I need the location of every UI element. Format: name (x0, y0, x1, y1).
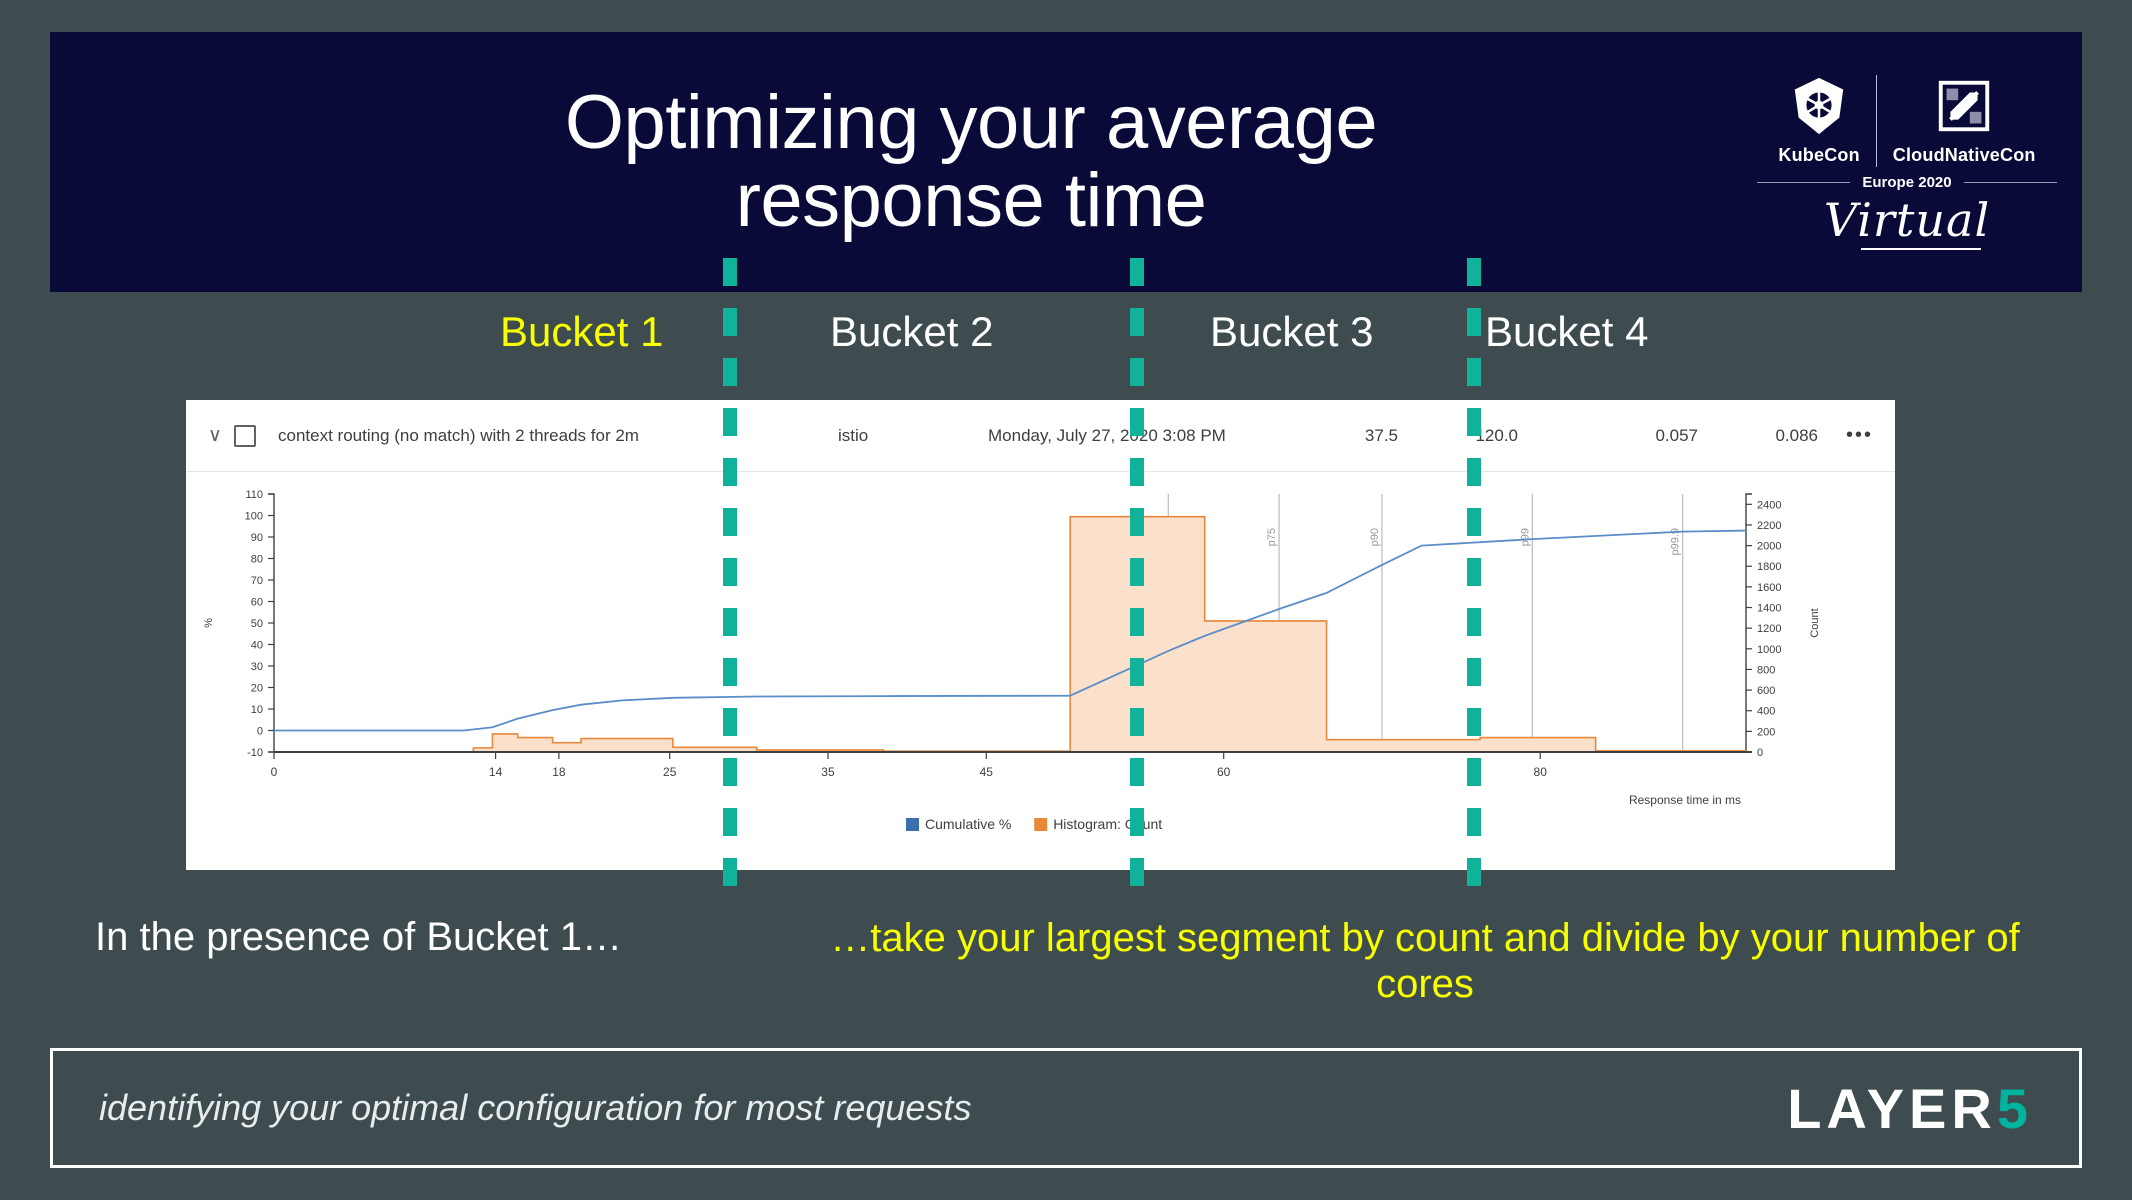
histogram-chart: -100102030405060708090100110%02004006008… (186, 472, 1895, 870)
svg-text:90: 90 (251, 532, 263, 544)
svg-text:1400: 1400 (1757, 603, 1781, 615)
chevron-down-icon[interactable]: ∨ (208, 424, 234, 447)
svg-text:80: 80 (251, 554, 263, 566)
test-name-label: context routing (no match) with 2 thread… (278, 426, 838, 446)
footer-caption: identifying your optimal configuration f… (99, 1087, 1787, 1129)
cloudnativecon-label: CloudNativeCon (1893, 145, 2036, 166)
metric-rps: 37.5 (1278, 426, 1398, 446)
svg-text:60: 60 (1217, 765, 1231, 779)
svg-text:1600: 1600 (1757, 582, 1781, 594)
svg-text:18: 18 (552, 765, 566, 779)
svg-text:400: 400 (1757, 706, 1775, 718)
logo-rule-right (1964, 182, 2057, 183)
caption-right: …take your largest segment by count and … (800, 915, 2050, 1007)
svg-text:40: 40 (251, 640, 263, 652)
row-checkbox[interactable] (234, 425, 256, 447)
svg-text:1200: 1200 (1757, 623, 1781, 635)
svg-text:20: 20 (251, 683, 263, 695)
layer5-word: LAYER (1787, 1076, 1997, 1141)
title-line-1: Optimizing your average (190, 84, 1752, 162)
svg-text:Cumulative %: Cumulative % (925, 816, 1011, 832)
svg-text:800: 800 (1757, 664, 1775, 676)
svg-text:2400: 2400 (1757, 499, 1781, 511)
edition-label: Europe 2020 (1850, 174, 1963, 191)
svg-text:14: 14 (489, 765, 503, 779)
svg-text:100: 100 (245, 511, 263, 523)
svg-text:600: 600 (1757, 685, 1775, 697)
caption-left: In the presence of Bucket 1… (95, 915, 622, 960)
bucket-divider-1 (723, 258, 737, 898)
bucket-label-row: Bucket 1 Bucket 2 Bucket 3 Bucket 4 (180, 300, 2010, 380)
svg-text:%: % (203, 618, 215, 628)
svg-text:0: 0 (1757, 747, 1763, 759)
svg-text:50: 50 (251, 618, 263, 630)
bucket-label-4: Bucket 4 (1485, 308, 1648, 356)
bucket-label-3: Bucket 3 (1210, 308, 1373, 356)
svg-text:0: 0 (271, 765, 278, 779)
page-title: Optimizing your average response time (50, 84, 1752, 239)
svg-text:60: 60 (251, 597, 263, 609)
metric-p99: 0.086 (1698, 426, 1818, 446)
svg-text:0: 0 (257, 726, 263, 738)
svg-text:1000: 1000 (1757, 644, 1781, 656)
logo-divider (1876, 75, 1877, 167)
svg-text:Response time in ms: Response time in ms (1629, 793, 1741, 807)
svg-text:200: 200 (1757, 726, 1775, 738)
slide-header: Optimizing your average response time (50, 32, 2082, 292)
svg-text:70: 70 (251, 575, 263, 587)
svg-text:-10: -10 (247, 747, 263, 759)
kubecon-cloudnativecon-logo: KubeCon CloudNativeCon Europe 2020 Virtu… (1752, 32, 2082, 292)
layer5-logo: LAYER5 (1787, 1076, 2033, 1141)
chart-canvas: -100102030405060708090100110%02004006008… (186, 472, 1895, 870)
row-overflow-menu-icon[interactable]: ••• (1818, 424, 1873, 447)
svg-text:1800: 1800 (1757, 561, 1781, 573)
bucket-divider-3 (1467, 258, 1481, 898)
svg-text:2000: 2000 (1757, 541, 1781, 553)
layer5-five: 5 (1997, 1076, 2033, 1141)
svg-text:45: 45 (980, 765, 994, 779)
kubernetes-helm-icon (1788, 75, 1850, 137)
bucket-label-1: Bucket 1 (500, 308, 663, 356)
performance-result-card: ∨ context routing (no match) with 2 thre… (186, 400, 1895, 870)
svg-text:80: 80 (1534, 765, 1548, 779)
svg-text:p90: p90 (1369, 528, 1381, 546)
svg-text:10: 10 (251, 704, 263, 716)
virtual-underline (1861, 248, 1981, 250)
metric-max: 120.0 (1398, 426, 1518, 446)
logo-rule-left (1757, 182, 1850, 183)
svg-text:Histogram: Count: Histogram: Count (1053, 816, 1162, 832)
virtual-label: Virtual (1824, 193, 1990, 247)
svg-text:25: 25 (663, 765, 677, 779)
metric-avg: 0.057 (1578, 426, 1698, 446)
kubecon-label: KubeCon (1778, 145, 1859, 166)
svg-text:2200: 2200 (1757, 520, 1781, 532)
svg-text:110: 110 (245, 489, 263, 501)
service-mesh-label: istio (838, 426, 988, 446)
slide-footer: identifying your optimal configuration f… (50, 1048, 2082, 1168)
svg-text:p99: p99 (1519, 528, 1531, 546)
svg-text:30: 30 (251, 661, 263, 673)
svg-text:p75: p75 (1266, 528, 1278, 546)
svg-text:Count: Count (1809, 608, 1821, 637)
title-line-2: response time (190, 162, 1752, 240)
cncf-cloud-native-icon (1933, 75, 1995, 137)
result-table-row[interactable]: ∨ context routing (no match) with 2 thre… (186, 400, 1895, 472)
bucket-label-2: Bucket 2 (830, 308, 993, 356)
bucket-divider-2 (1130, 258, 1144, 898)
svg-text:35: 35 (821, 765, 835, 779)
